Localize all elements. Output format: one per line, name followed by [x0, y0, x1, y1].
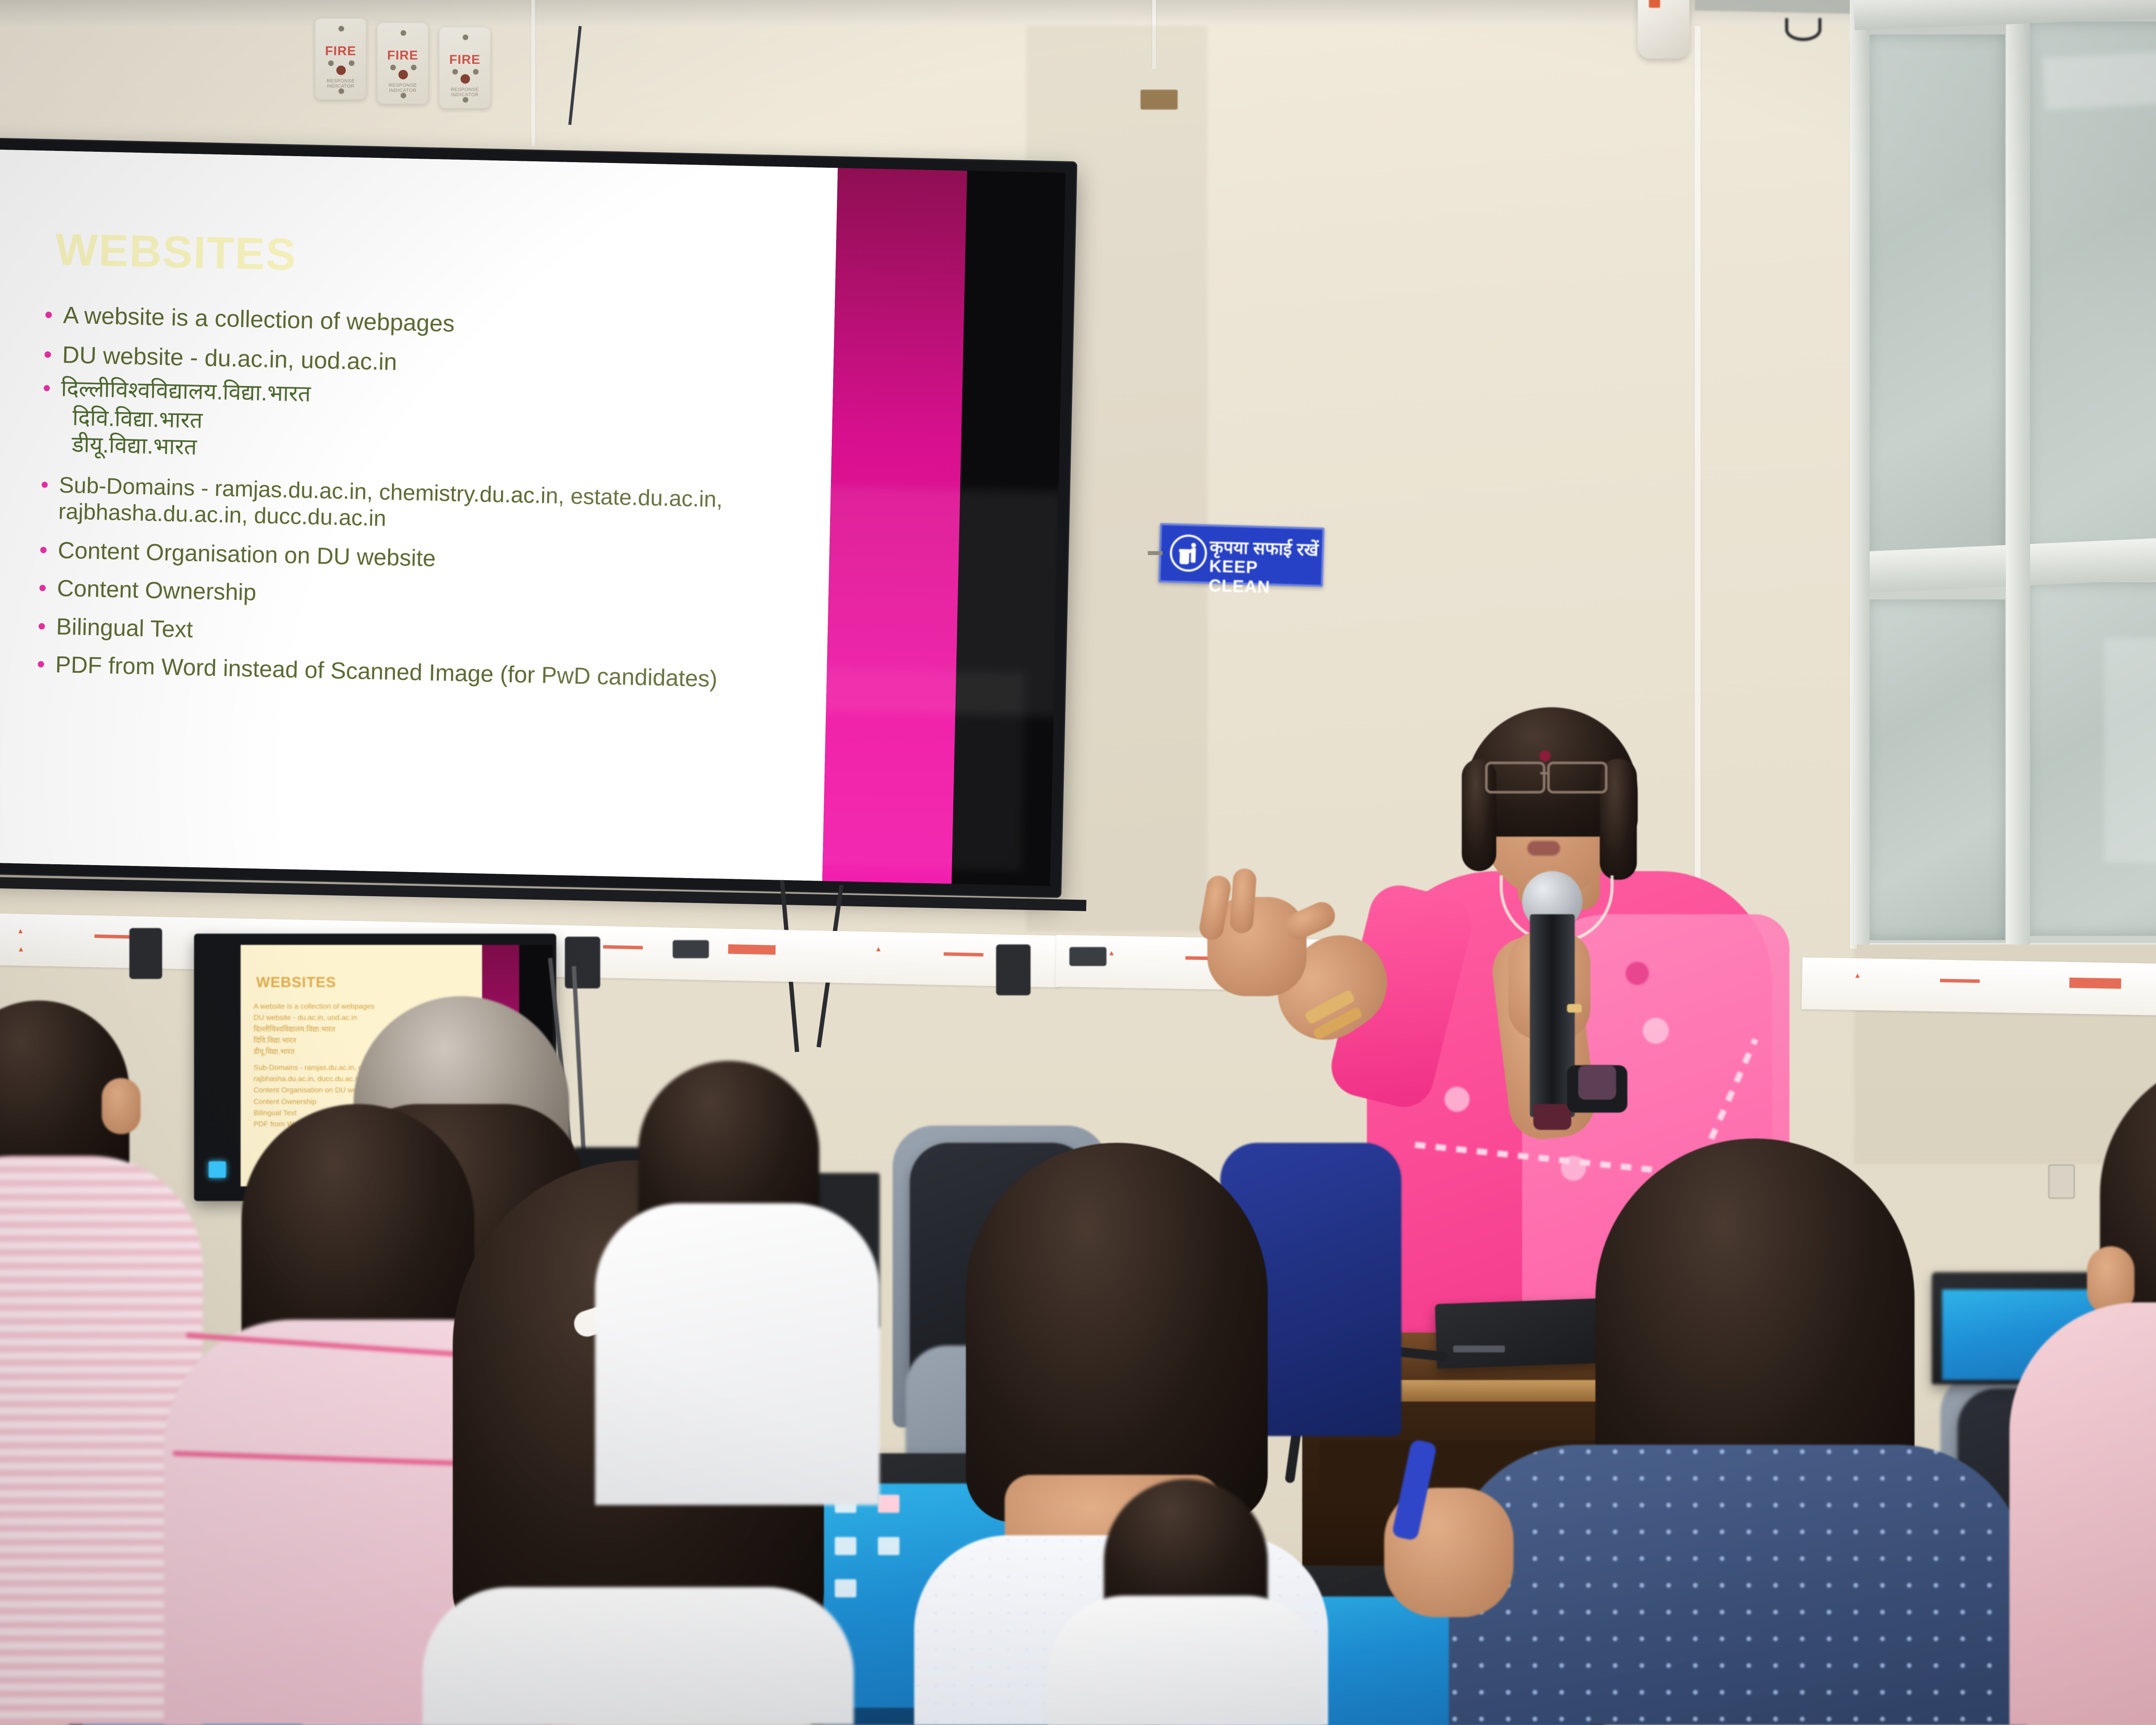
- wall-display-bezel: WEBSITES • A website is a collection of …: [0, 139, 1076, 897]
- fire-sublabel: RESPONSE INDICATOR: [439, 87, 491, 97]
- bullet-text: Bilingual Text: [56, 614, 193, 643]
- fire-sublabel: RESPONSE INDICATOR: [315, 78, 367, 89]
- window-frame-left-post: [1850, 0, 1870, 944]
- window-pane: [1867, 34, 2005, 569]
- wristwatch-face: [1578, 1065, 1616, 1100]
- sari-embroidery: [1445, 1087, 1470, 1112]
- speaker-mouth: [1527, 841, 1560, 856]
- bullet-text: Content Organisation on DU website: [57, 537, 436, 572]
- sign-mount-screw: [1148, 551, 1163, 555]
- monitor-power-led: [209, 1161, 226, 1178]
- wall-socket: [129, 928, 162, 979]
- fire-alarm-sounder-icon: [1638, 0, 1689, 59]
- slide-bullet: • A website is a collection of webpages: [44, 301, 816, 345]
- litter-bin-icon: [1169, 534, 1207, 572]
- fire-label: FIRE: [377, 48, 429, 63]
- wall-socket: [2048, 1164, 2075, 1199]
- microphone-tip: [1533, 1104, 1571, 1130]
- bullet-dot-icon: •: [43, 375, 51, 402]
- fire-alarm-plate: FIRE RESPONSE INDICATOR: [315, 18, 367, 100]
- eyeglasses-icon: [1547, 762, 1608, 793]
- eyeglasses-bridge: [1540, 772, 1548, 775]
- bullet-text: A website is a collection of webpages: [63, 302, 455, 337]
- wall-socket: [996, 944, 1031, 995]
- audience-hair: [966, 1143, 1268, 1522]
- audience-ear: [102, 1078, 141, 1134]
- fire-alarm-plate: FIRE RESPONSE INDICATOR: [377, 22, 429, 104]
- bindi-icon: [1539, 750, 1551, 762]
- classroom-photo: FIRE RESPONSE INDICATOR FIRE RESPONSE IN…: [0, 0, 2156, 1725]
- podium-laptop-ports: [1453, 1345, 1505, 1352]
- audience-shirt: [1048, 1596, 1324, 1725]
- bullet-dot-icon: •: [43, 341, 52, 368]
- wall-seam: [1695, 26, 1701, 949]
- sari-embroidery: [1626, 962, 1649, 985]
- wall-mark: [1141, 90, 1178, 110]
- display-glare: [797, 668, 1025, 871]
- bullet-dot-icon: •: [44, 301, 53, 328]
- bullet-dot-icon: •: [38, 575, 47, 601]
- bullet-dot-icon: •: [40, 472, 49, 524]
- wall-socket: [1069, 947, 1106, 966]
- sari-embroidery: [1643, 1018, 1669, 1044]
- bullet-dot-icon: •: [39, 537, 48, 563]
- audience-shirt: [423, 1587, 854, 1725]
- audience-shirt: [595, 1203, 880, 1505]
- window-pane: [1867, 599, 2005, 940]
- bullet-text: DU website - du.ac.in, uod.ac.in: [62, 342, 398, 376]
- audience-shirt: [1449, 1445, 2027, 1725]
- finger-ring: [1567, 1004, 1582, 1013]
- fire-label: FIRE: [315, 44, 367, 59]
- fire-label: FIRE: [439, 53, 491, 67]
- window-reflection: [2104, 638, 2156, 862]
- fire-alarm-plate: FIRE RESPONSE INDICATOR: [439, 27, 491, 109]
- bullet-text: Content Ownership: [57, 575, 257, 606]
- wall-socket: [673, 940, 709, 958]
- eyeglasses-icon: [1485, 762, 1545, 793]
- speaker-finger: [1229, 868, 1257, 934]
- slide-title: WEBSITES: [55, 224, 297, 281]
- wall-seam: [531, 0, 535, 147]
- keep-clean-sign: कृपया सफाई रखें KEEP CLEAN: [1158, 523, 1325, 587]
- mini-slide-title: WEBSITES: [256, 974, 336, 991]
- wall-display-panel: WEBSITES • A website is a collection of …: [0, 150, 1065, 886]
- bullet-text-hindi: दिल्लीविश्वविद्यालय.विद्या.भारत: [61, 376, 311, 408]
- audience-shirt: [2009, 1302, 2156, 1725]
- window-mullion-vertical: [2006, 9, 2030, 944]
- fire-sublabel: RESPONSE INDICATOR: [377, 83, 429, 93]
- bullet-dot-icon: •: [38, 613, 46, 640]
- ceiling-cable-loop: [1785, 18, 1821, 41]
- bullet-dot-icon: •: [37, 651, 45, 678]
- wall-socket: [565, 937, 600, 988]
- keep-clean-english: KEEP CLEAN: [1208, 557, 1321, 599]
